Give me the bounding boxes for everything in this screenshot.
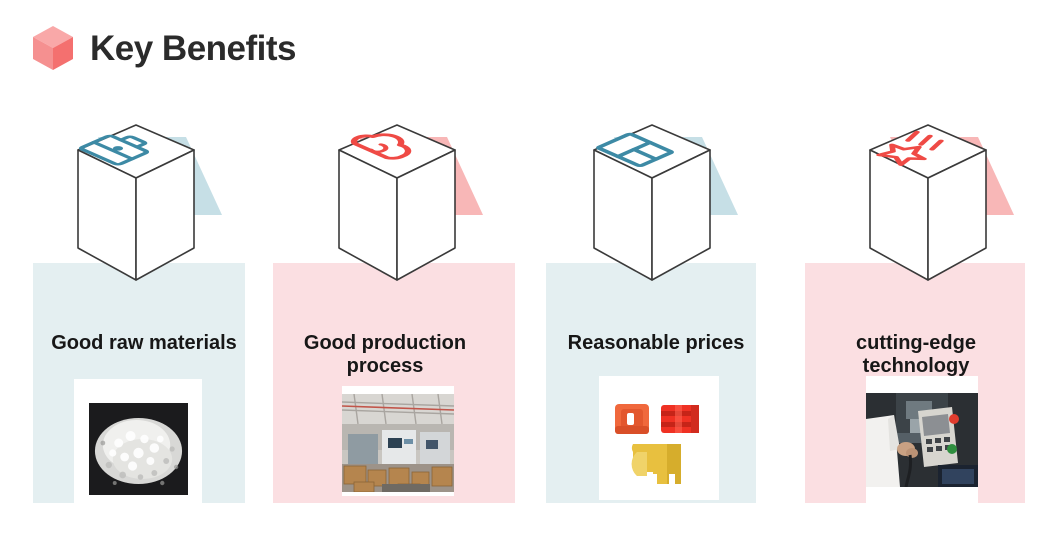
card-photo-frame bbox=[74, 379, 202, 517]
card-title: cutting-edge technology bbox=[790, 332, 1042, 379]
cube-illustration bbox=[297, 120, 497, 305]
benefit-card-good-raw-materials[interactable]: Good raw materials bbox=[18, 120, 270, 520]
card-photo-frame bbox=[866, 376, 978, 506]
molded-plastic-parts-photo bbox=[603, 382, 715, 492]
plastic-resin-pellets-photo bbox=[89, 403, 188, 495]
cube-illustration bbox=[828, 120, 1028, 305]
benefits-card-list: Good raw materials bbox=[0, 0, 1059, 546]
benefit-card-good-production-process[interactable]: Good production process bbox=[259, 120, 511, 520]
card-title: Good raw materials bbox=[18, 332, 270, 355]
card-photo-frame bbox=[342, 386, 454, 496]
card-title: Good production process bbox=[259, 332, 511, 379]
cnc-machine-operator-photo bbox=[866, 393, 978, 487]
cube-illustration bbox=[552, 120, 752, 305]
card-photo-frame bbox=[599, 376, 719, 500]
benefit-card-reasonable-prices[interactable]: Reasonable prices bbox=[530, 120, 782, 520]
factory-production-line-photo bbox=[342, 394, 454, 492]
benefit-card-cutting-edge-technology[interactable]: cutting-edge technology bbox=[790, 120, 1042, 520]
cube-illustration bbox=[36, 120, 236, 305]
card-title: Reasonable prices bbox=[530, 332, 782, 355]
